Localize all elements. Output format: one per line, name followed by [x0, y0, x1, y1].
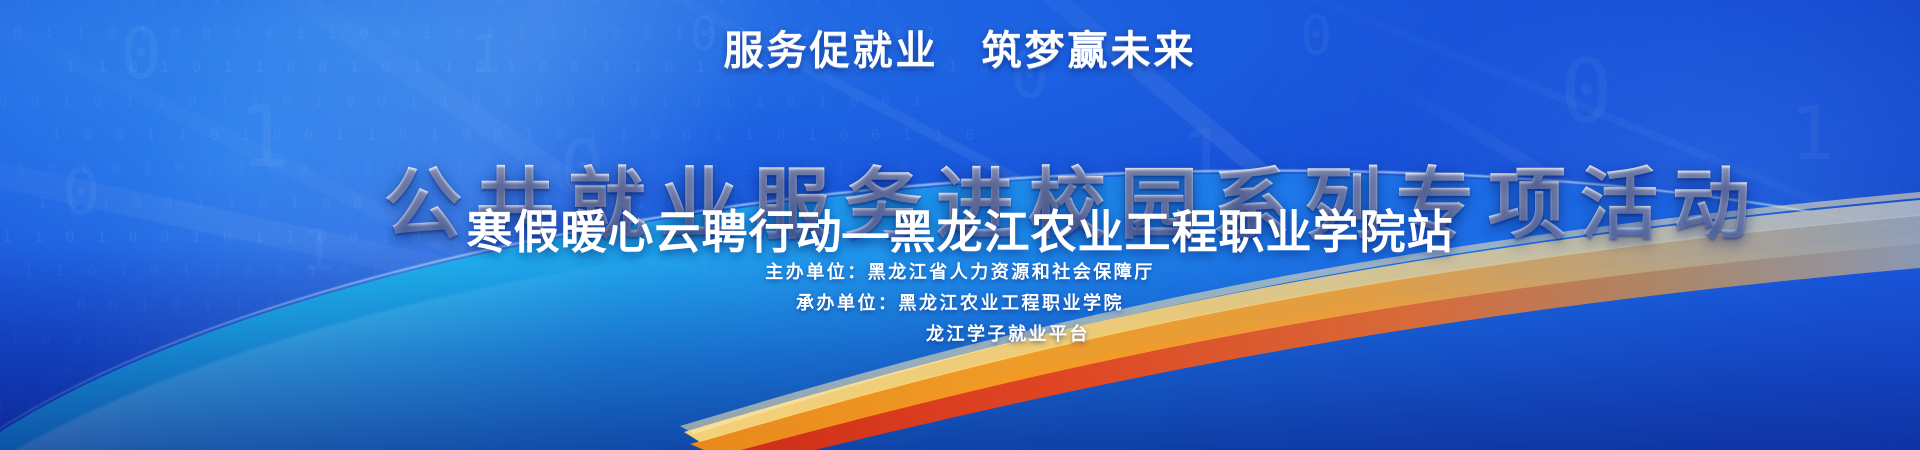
event-banner: 1 0 1 0 0 1 1 0 1 0 0 1 0 1 1 0 1 0 0 1 … — [0, 0, 1920, 450]
banner-text: 服务促就业 筑梦赢未来 公共就业服务进校园系列专项活动 寒假暖心云聘行动—黑龙江… — [0, 0, 1920, 450]
banner-subtitle: 寒假暖心云聘行动—黑龙江农业工程职业学院站 — [0, 196, 1920, 262]
organizer-block: 主办单位：黑龙江省人力资源和社会保障厅 承办单位：黑龙江农业工程职业学院 龙江学… — [0, 258, 1920, 346]
banner-tagline: 服务促就业 筑梦赢未来 — [0, 18, 1920, 76]
organizer-coorganizer: 承办单位：黑龙江农业工程职业学院 — [796, 289, 1124, 315]
organizer-host: 主办单位：黑龙江省人力资源和社会保障厅 — [765, 258, 1155, 284]
organizer-platform: 龙江学子就业平台 — [830, 320, 1090, 346]
